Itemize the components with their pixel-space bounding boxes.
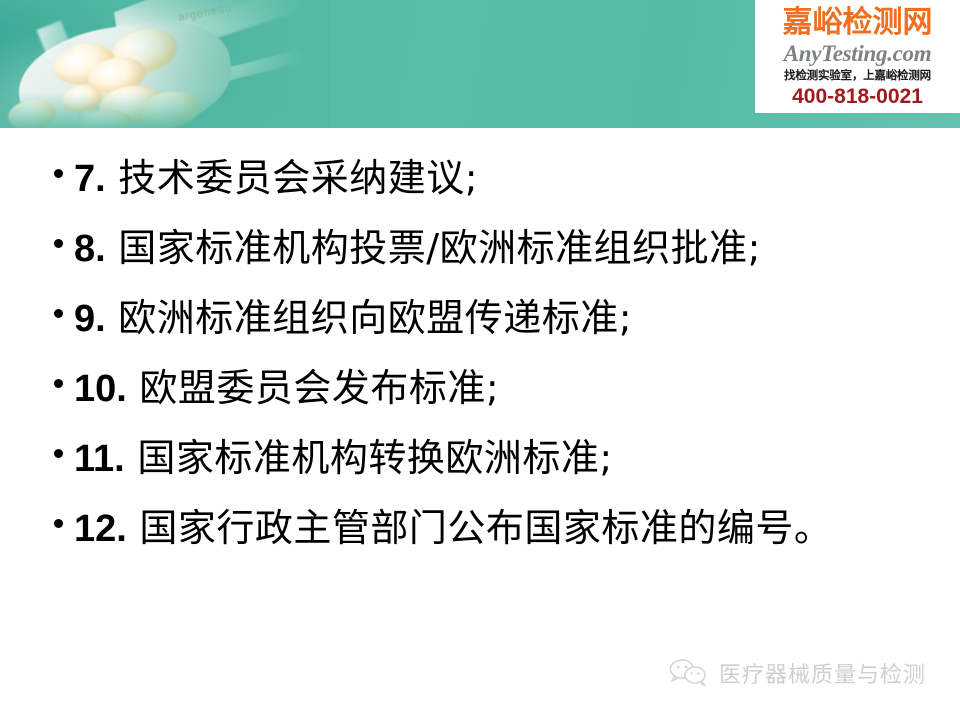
bullet-dot-icon <box>48 148 74 178</box>
logo-domain: AnyTesting.com <box>761 41 954 67</box>
photo-fade-vertical <box>0 0 330 128</box>
bullet-dot-icon <box>48 288 74 318</box>
header-banner: argoneau 嘉峪检测网 AnyTesting.com 找检测实验室，上嘉峪… <box>0 0 960 128</box>
bullet-dot-icon <box>48 428 74 458</box>
logo-chinese-name: 嘉峪检测网 <box>761 5 954 41</box>
list-item-body: 欧洲标准组织向欧盟传递标准; <box>118 296 632 340</box>
list-item: 8. 国家标准机构投票/欧洲标准组织批准; <box>48 218 928 279</box>
list-item-body: 国家行政主管部门公布国家标准的编号。 <box>139 506 832 550</box>
list-item-text: 10. 欧盟委员会发布标准; <box>74 358 928 419</box>
wechat-icon <box>668 658 710 688</box>
list-item-body: 技术委员会采纳建议; <box>118 156 478 200</box>
bullet-list: 7. 技术委员会采纳建议; 8. 国家标准机构投票/欧洲标准组织批准; 9. 欧… <box>48 148 928 568</box>
list-item-number: 11. <box>74 438 125 480</box>
bullet-dot-icon <box>48 218 74 248</box>
list-item-number: 9. <box>74 298 106 340</box>
list-item-text: 11. 国家标准机构转换欧洲标准; <box>74 428 928 489</box>
list-item: 10. 欧盟委员会发布标准; <box>48 358 928 419</box>
logo-slogan: 找检测实验室，上嘉峪检测网 <box>761 67 954 84</box>
list-item-number: 12. <box>74 508 127 550</box>
list-item-text: 12. 国家行政主管部门公布国家标准的编号。 <box>74 498 928 559</box>
list-item-number: 10. <box>74 368 127 410</box>
list-item: 11. 国家标准机构转换欧洲标准; <box>48 428 928 489</box>
list-item: 12. 国家行政主管部门公布国家标准的编号。 <box>48 498 928 559</box>
bullet-dot-icon <box>48 498 74 528</box>
list-item-number: 7. <box>74 158 106 200</box>
list-item-text: 8. 国家标准机构投票/欧洲标准组织批准; <box>74 218 928 279</box>
list-item-number: 8. <box>74 228 106 270</box>
watermark-text: 医疗器械质量与检测 <box>719 657 926 689</box>
surgical-lamp-photo: argoneau <box>0 0 330 128</box>
logo-phone-number: 400-818-0021 <box>761 84 954 109</box>
list-item-text: 7. 技术委员会采纳建议; <box>74 148 928 209</box>
site-logo[interactable]: 嘉峪检测网 AnyTesting.com 找检测实验室，上嘉峪检测网 400-8… <box>755 0 960 113</box>
slide-canvas: argoneau 嘉峪检测网 AnyTesting.com 找检测实验室，上嘉峪… <box>0 0 960 720</box>
list-item: 9. 欧洲标准组织向欧盟传递标准; <box>48 288 928 349</box>
wechat-watermark: 医疗器械质量与检测 <box>668 657 926 689</box>
list-item-text: 9. 欧洲标准组织向欧盟传递标准; <box>74 288 928 349</box>
list-item-body: 欧盟委员会发布标准; <box>139 366 499 410</box>
list-item-body: 国家标准机构转换欧洲标准; <box>137 436 612 480</box>
list-item-body: 国家标准机构投票/欧洲标准组织批准; <box>118 226 761 270</box>
list-item: 7. 技术委员会采纳建议; <box>48 148 928 209</box>
bullet-dot-icon <box>48 358 74 388</box>
